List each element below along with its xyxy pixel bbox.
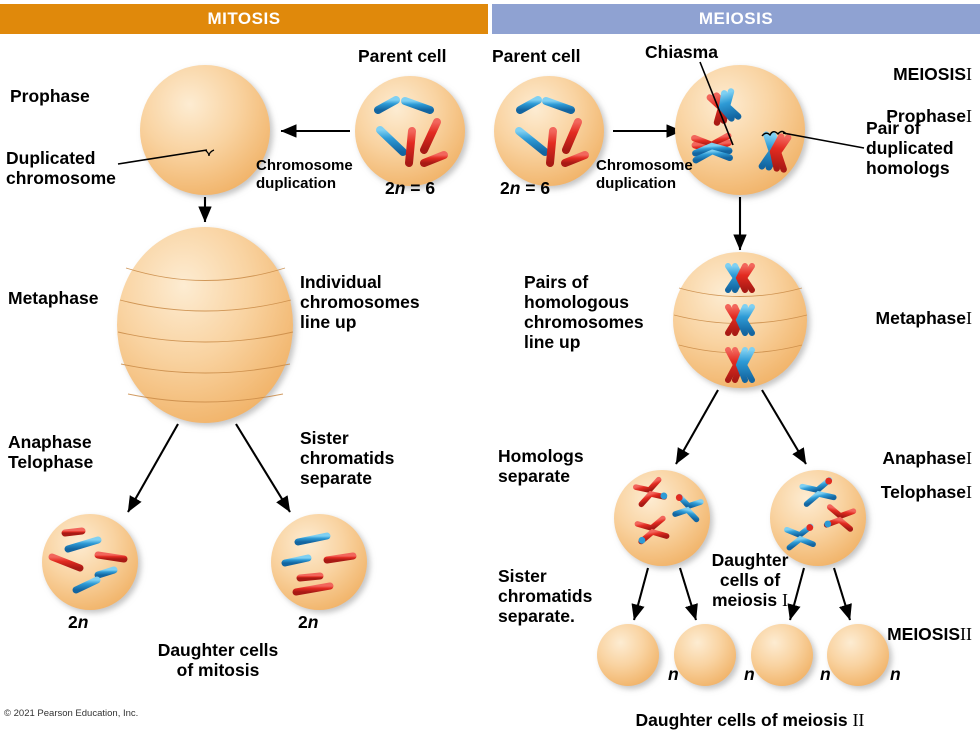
label-daughter-cells-meiosis-i: Daughter cells of meiosis I — [690, 530, 810, 610]
label-pair-duplicated-homologs: Pair of duplicated homologs — [866, 118, 954, 178]
label-chromosome-duplication-meiosis: Chromosome duplication — [596, 157, 693, 192]
label-gamete-1-ploidy: n — [668, 664, 679, 684]
label-meiosis-ii-text: MEIOSIS — [887, 624, 960, 644]
label-parent-ploidy-mitosis: 2n = 6 — [385, 178, 435, 198]
label-meiosis-i-numeral: I — [966, 64, 972, 84]
label-daughter-cells-meiosis-ii: Daughter cells of meiosis II — [590, 690, 910, 730]
mitosis-prophase-cell — [140, 65, 270, 195]
label-meiosis-i-text: MEIOSIS — [893, 64, 966, 84]
label-pairs-homologous-line-up: Pairs of homologous chromosomes line up — [524, 272, 644, 352]
label-gamete-4-ploidy: n — [890, 664, 901, 684]
mitosis-daughter-cell-left — [42, 514, 138, 610]
meiosis-ii-gamete-1 — [597, 624, 659, 686]
arrow-metaphase-i-left — [676, 390, 718, 464]
label-homologs-separate: Homologs separate — [498, 446, 584, 486]
label-chromosome-duplication-mitosis: Chromosome duplication — [256, 157, 353, 192]
meiosis-ii-gamete-2 — [674, 624, 736, 686]
meiosis-prophase-i-cell — [675, 65, 805, 195]
label-gamete-2-ploidy: n — [744, 664, 755, 684]
copyright-notice: © 2021 Pearson Education, Inc. — [4, 708, 138, 719]
label-metaphase-i-numeral: I — [966, 308, 972, 328]
label-parent-ploidy-meiosis: 2n = 6 — [500, 178, 550, 198]
label-prophase-i-numeral: I — [966, 106, 972, 126]
arrow-metaphase-left — [128, 424, 178, 512]
label-daughter-cells-meiosis-i-text: Daughter cells of meiosis — [712, 550, 789, 610]
label-gamete-3-ploidy: n — [820, 664, 831, 684]
label-telophase-i: TelophaseI — [790, 462, 972, 502]
figure-canvas: MITOSIS MEIOSIS — [0, 0, 980, 730]
label-meiosis-ii-numeral: II — [960, 624, 972, 644]
label-individual-chromosomes-line-up: Individual chromosomes line up — [300, 272, 420, 332]
label-prophase: Prophase — [10, 86, 90, 106]
label-sister-chromatids-separate-mitosis: Sister chromatids separate — [300, 428, 394, 488]
label-daughter-cells-mitosis: Daughter cells of mitosis — [108, 640, 328, 680]
label-daughter-cells-meiosis-i-numeral: I — [782, 590, 788, 610]
label-anaphase-telophase: Anaphase Telophase — [8, 432, 93, 472]
label-prophase-i-text: Prophase — [886, 106, 966, 126]
label-chiasma: Chiasma — [645, 42, 718, 62]
label-parent-cell-meiosis: Parent cell — [492, 46, 581, 66]
label-meiosis-i: MEIOSISI — [790, 44, 972, 84]
arrow-metaphase-right — [236, 424, 290, 512]
mitosis-parent-cell — [355, 76, 465, 186]
label-telophase-i-numeral: I — [966, 482, 972, 502]
label-daughter-cells-meiosis-ii-numeral: II — [852, 710, 864, 730]
arrow-gamete-1 — [634, 568, 648, 620]
meiosis-metaphase-i-cell — [673, 252, 807, 388]
label-daughter-cells-meiosis-ii-text: Daughter cells of meiosis — [636, 710, 848, 730]
label-telophase-i-text: Telophase — [881, 482, 966, 502]
label-metaphase-i: MetaphaseI — [790, 288, 972, 328]
label-sister-chromatids-separate-meiosis: Sister chromatids separate. — [498, 566, 592, 626]
label-meiosis-ii: MEIOSISII — [790, 604, 972, 644]
label-metaphase-i-text: Metaphase — [876, 308, 966, 328]
label-parent-cell-mitosis: Parent cell — [358, 46, 447, 66]
mitosis-daughter-cell-right — [271, 514, 367, 610]
label-prophase-i: ProphaseI — [790, 86, 972, 126]
label-duplicated-chromosome: Duplicated chromosome — [6, 148, 116, 188]
label-daughter-left-ploidy: 2n — [68, 612, 88, 632]
label-daughter-right-ploidy: 2n — [298, 612, 318, 632]
label-metaphase: Metaphase — [8, 288, 98, 308]
mitosis-metaphase-cell — [117, 227, 293, 426]
meiosis-parent-cell — [494, 76, 604, 186]
